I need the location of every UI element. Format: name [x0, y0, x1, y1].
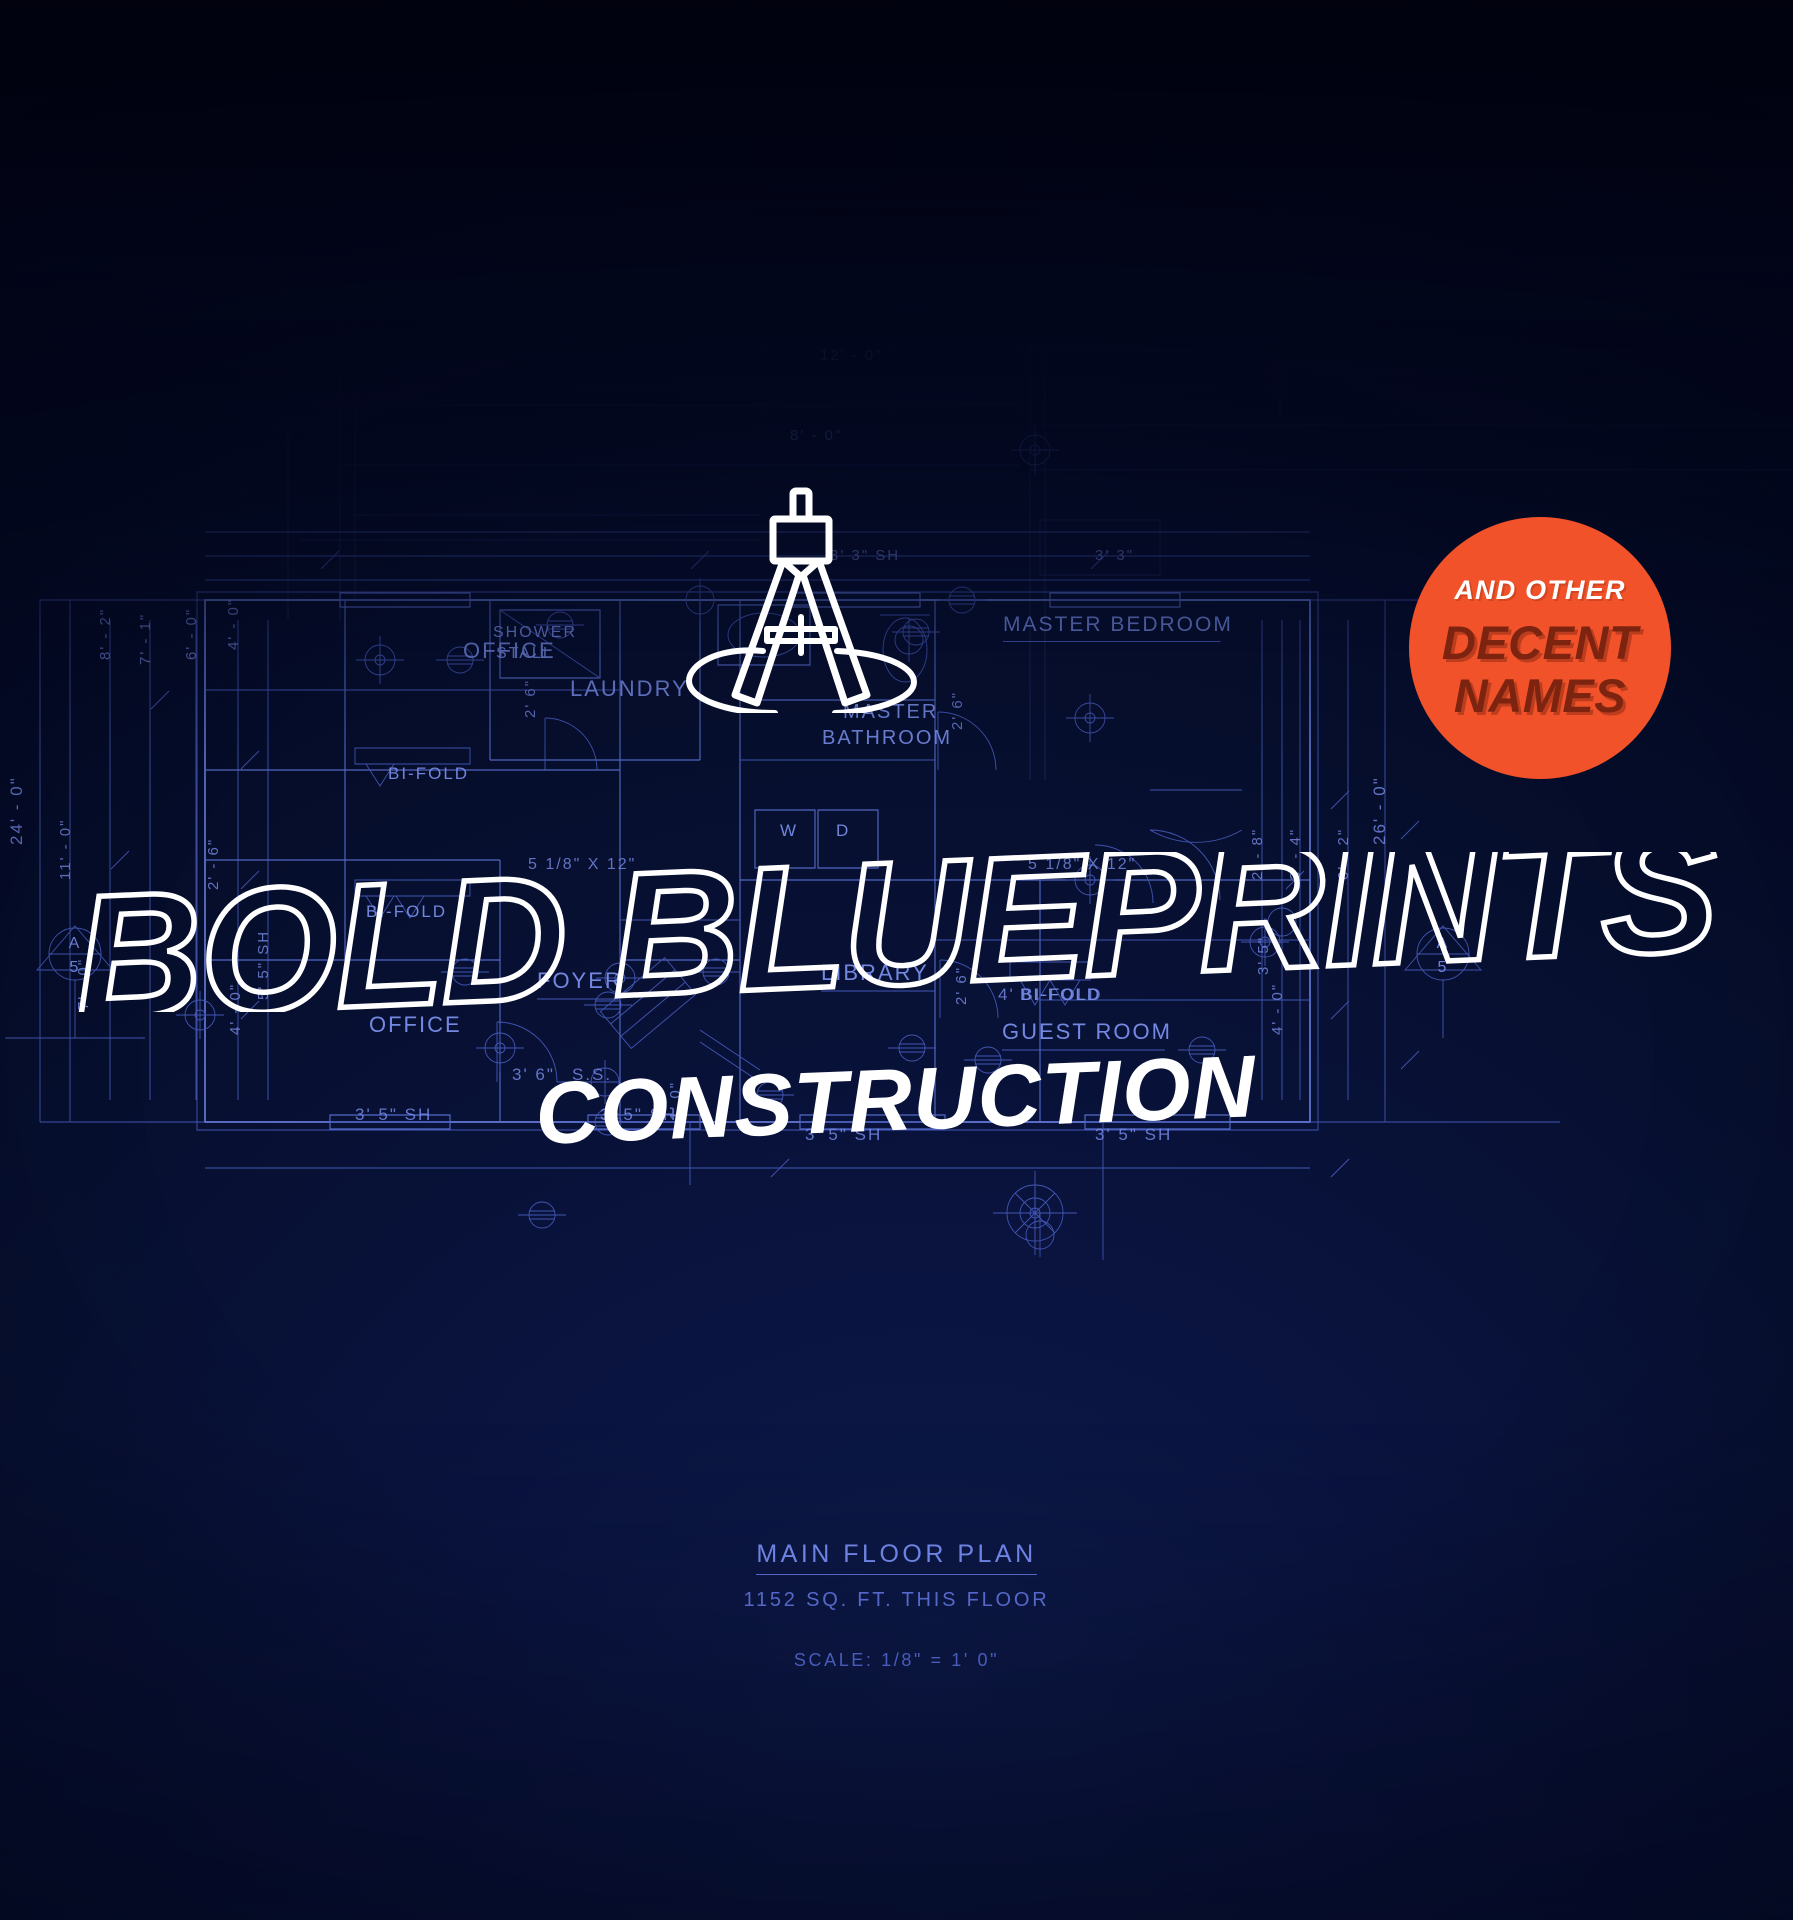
blueprint-dimension-label: 7' - 1" — [137, 613, 154, 665]
blueprint-room-label: W — [780, 821, 798, 840]
badge-line-3: NAMES — [1454, 672, 1626, 719]
blueprint-room-label: BI-FOLD — [388, 764, 469, 783]
blueprint-dimension-label: 2' 6" — [949, 691, 966, 730]
brand-subtitle: CONSTRUCTION — [0, 1038, 1793, 1168]
blueprint-dimension-label: 3' 3" — [1095, 547, 1134, 564]
blueprint-dimension-label: 24' - 0" — [7, 776, 26, 845]
blueprint-room-label: SHOWER — [493, 624, 577, 641]
blueprint-dimension-label: 12' - 0" — [820, 347, 883, 364]
blueprint-room-label: BATHROOM — [822, 727, 952, 749]
plan-area: 1152 SQ. FT. THIS FLOOR — [0, 1589, 1793, 1612]
blueprint-dimension-label: 26' - 0" — [1370, 776, 1389, 845]
blueprint-room-label: OFFICE — [369, 1012, 462, 1037]
blueprint-dimension-label: 8' - 0" — [790, 427, 842, 444]
blueprint-dimension-label: 4' - 0" — [225, 598, 242, 650]
blueprint-dimension-label: 8' - 2" — [97, 608, 114, 660]
blueprint-room-label: D — [836, 821, 850, 840]
decent-names-badge[interactable]: AND OTHER DECENT NAMES — [1409, 517, 1671, 779]
brand-title: BOLD BLUEPRINTS — [0, 852, 1793, 1012]
blueprint-room-label: MASTER BEDROOM — [1003, 613, 1233, 636]
brand-title-text: BOLD BLUEPRINTS — [71, 852, 1720, 1012]
plan-caption: MAIN FLOOR PLAN 1152 SQ. FT. THIS FLOOR … — [0, 1540, 1793, 1671]
blueprint-dimension-label: 2' 6" — [522, 679, 539, 718]
blueprint-dimension-labels: 3' 5" SH3' 5" SH3' 5" SH3' 5" SH3' 6"S.S… — [7, 347, 1389, 1144]
badge-line-1: AND OTHER — [1454, 577, 1625, 604]
poster-canvas: A 5 A 5 — [0, 0, 1793, 1920]
brand-subtitle-text: CONSTRUCTION — [534, 1038, 1260, 1163]
blueprint-dimension-label: 6' - 0" — [183, 608, 200, 660]
badge-line-2: DECENT — [1442, 619, 1638, 666]
blueprint-room-label: STALL — [496, 645, 554, 662]
drafting-compass-icon — [671, 483, 931, 713]
plan-title: MAIN FLOOR PLAN — [756, 1540, 1036, 1575]
plan-scale: SCALE: 1/8" = 1' 0" — [0, 1650, 1793, 1671]
